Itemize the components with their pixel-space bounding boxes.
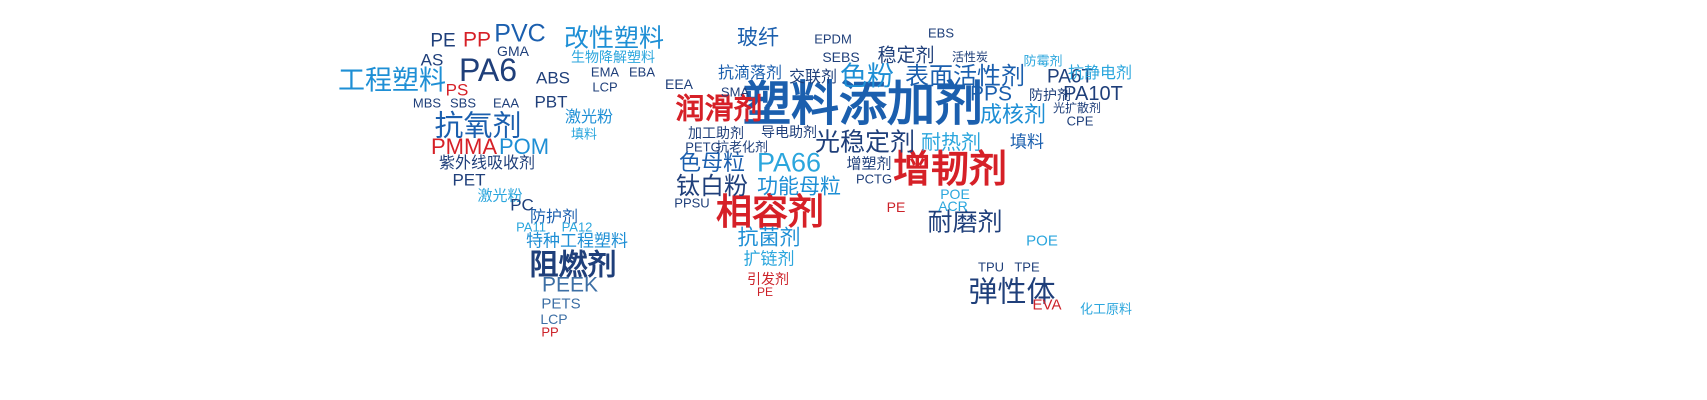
cloud-word[interactable]: 抗老化剂 (716, 141, 768, 154)
cloud-word[interactable]: 耐热剂 (921, 133, 981, 153)
cloud-word[interactable]: EBA (629, 66, 655, 79)
cloud-word[interactable]: TPU (978, 261, 1004, 274)
cloud-word[interactable]: PCTG (856, 173, 892, 186)
cloud-word[interactable]: 防护剂 (1029, 88, 1071, 102)
cloud-word[interactable]: PC (510, 197, 534, 214)
cloud-word[interactable]: 色粉 (840, 64, 894, 91)
cloud-word[interactable]: 稳定剂 (877, 47, 934, 66)
cloud-word[interactable]: 改性塑料 (564, 27, 664, 52)
cloud-word[interactable]: 引发剂 (747, 272, 789, 286)
cloud-word[interactable]: PP (463, 30, 491, 51)
cloud-word[interactable]: 扩链剂 (744, 251, 795, 268)
cloud-word[interactable]: PE (887, 200, 906, 214)
cloud-word[interactable]: 交联剂 (789, 70, 837, 86)
cloud-word[interactable]: 工程塑料 (338, 68, 446, 95)
cloud-word[interactable]: 增塑剂 (846, 157, 891, 172)
cloud-word[interactable]: 光稳定剂 (815, 131, 915, 156)
cloud-word[interactable]: 抗菌剂 (738, 228, 801, 249)
cloud-word[interactable]: PETG (685, 141, 720, 154)
cloud-word[interactable]: POE (1026, 234, 1058, 249)
cloud-word[interactable]: 玻纤 (737, 28, 779, 49)
cloud-word[interactable]: 抗静电剂 (1068, 66, 1132, 82)
cloud-word[interactable]: 色母粒 (679, 152, 745, 174)
cloud-word[interactable]: 增韧剂 (893, 151, 1007, 189)
cloud-word[interactable]: AS (421, 52, 444, 69)
cloud-word[interactable]: 活性炭 (952, 51, 988, 63)
cloud-word[interactable]: 生物降解塑料 (571, 50, 655, 64)
cloud-word[interactable]: 抗滴落剂 (718, 66, 782, 82)
cloud-word[interactable]: 特种工程塑料 (526, 233, 628, 250)
cloud-word[interactable]: EBS (928, 27, 954, 40)
cloud-word[interactable]: PPS (970, 84, 1012, 105)
cloud-word[interactable]: PPSU (674, 197, 709, 210)
cloud-word[interactable]: 填料 (571, 128, 597, 141)
cloud-word[interactable]: LCP (592, 81, 617, 94)
cloud-word[interactable]: 功能母粒 (757, 177, 841, 198)
cloud-word[interactable]: SBS (450, 97, 476, 110)
cloud-word[interactable]: TPE (1014, 261, 1039, 274)
cloud-word[interactable]: 加工助剂 (688, 126, 744, 140)
cloud-word[interactable]: EEA (665, 77, 693, 91)
cloud-word[interactable]: PA11 (516, 221, 546, 234)
cloud-word[interactable]: PA12 (562, 221, 593, 234)
cloud-word[interactable]: PET (452, 172, 485, 189)
cloud-word[interactable]: 润滑剂 (675, 96, 762, 125)
cloud-word[interactable]: 耐磨剂 (927, 211, 1002, 236)
cloud-word[interactable]: PEEK (542, 275, 598, 296)
cloud-word[interactable]: SMA (721, 86, 749, 99)
cloud-word[interactable]: 激光粉 (565, 110, 613, 126)
cloud-word[interactable]: 防霉剂 (1023, 55, 1062, 68)
cloud-word[interactable]: CPE (1067, 115, 1094, 128)
cloud-word[interactable]: EMA (591, 66, 619, 79)
cloud-word[interactable]: 导电助剂 (761, 125, 817, 139)
cloud-word[interactable]: 成核剂 (980, 104, 1046, 126)
cloud-word[interactable]: 光扩散剂 (1053, 102, 1101, 114)
cloud-word[interactable]: EAA (493, 97, 519, 110)
cloud-word[interactable]: 化工原料 (1080, 303, 1132, 316)
cloud-word[interactable]: 填料 (1010, 134, 1044, 151)
cloud-word[interactable]: EVA (1033, 298, 1062, 313)
cloud-word[interactable]: ABS (536, 70, 570, 87)
cloud-word[interactable]: PP (541, 326, 558, 339)
cloud-word[interactable]: SEBS (822, 50, 859, 64)
cloud-word[interactable]: ACR (938, 199, 968, 213)
word-cloud-canvas: 塑料添加剂增韧剂相容剂润滑剂阻燃剂工程塑料PA6抗氧剂改性塑料色粉表面活性剂光稳… (0, 0, 1707, 400)
cloud-word[interactable]: EPDM (814, 33, 852, 46)
cloud-word[interactable]: PE (757, 286, 773, 298)
cloud-word[interactable]: GMA (497, 44, 529, 58)
cloud-word[interactable]: MBS (413, 97, 441, 110)
cloud-word[interactable]: PE (430, 32, 455, 51)
cloud-word[interactable]: PETS (541, 297, 580, 312)
cloud-word[interactable]: PBT (534, 94, 567, 111)
